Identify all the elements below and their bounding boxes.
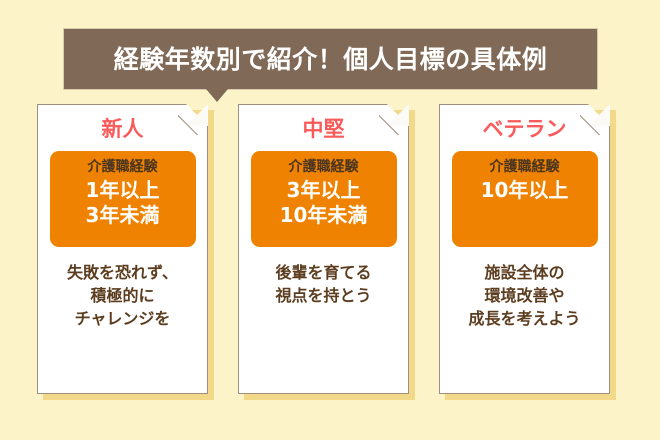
card-title: ベテラン [483, 118, 567, 141]
message-line: 施設全体の [468, 261, 580, 284]
experience-label: 介護職経験 [289, 159, 359, 177]
card-content: ベテラン 介護職経験 10年以上 施設全体の 環境改善や 成長を考えよう [439, 104, 610, 394]
experience-label: 介護職経験 [490, 159, 560, 177]
triangle-down-icon [206, 89, 228, 102]
message-line: 後輩を育てる [275, 261, 371, 284]
experience-values: 3年以上 10年未満 [280, 178, 368, 229]
message-line: 失敗を恐れず、 [67, 261, 178, 284]
experience-value: 10年未満 [280, 203, 368, 229]
experience-box: 介護職経験 1年以上 3年未満 [50, 151, 196, 247]
card-content: 新人 介護職経験 1年以上 3年未満 失敗を恐れず、 積極的に チャレンジを [37, 104, 208, 394]
experience-box: 介護職経験 3年以上 10年未満 [251, 151, 397, 247]
experience-value: 3年以上 [287, 178, 361, 204]
card-row: 新人 介護職経験 1年以上 3年未満 失敗を恐れず、 積極的に チャレンジを [0, 104, 660, 404]
card-newcomer: 新人 介護職経験 1年以上 3年未満 失敗を恐れず、 積極的に チャレンジを [37, 104, 208, 394]
experience-value: 3年未満 [86, 203, 160, 229]
infographic-page: 経験年数別で紹介！個人目標の具体例 新人 介護職経験 1年以上 3年未満 失敗を [0, 0, 660, 440]
card-message: 失敗を恐れず、 積極的に チャレンジを [67, 261, 178, 331]
card-title: 中堅 [303, 118, 345, 141]
experience-values: 10年以上 [481, 178, 569, 204]
message-line: 積極的に [67, 284, 178, 307]
header-banner: 経験年数別で紹介！個人目標の具体例 [63, 28, 598, 90]
experience-value: 1年以上 [86, 178, 160, 204]
card-title: 新人 [102, 118, 144, 141]
message-line: 成長を考えよう [468, 307, 580, 330]
message-line: チャレンジを [67, 307, 178, 330]
experience-values: 1年以上 3年未満 [86, 178, 160, 229]
card-message: 後輩を育てる 視点を持とう [275, 261, 371, 307]
message-line: 環境改善や [468, 284, 580, 307]
message-line: 視点を持とう [275, 284, 371, 307]
card-message: 施設全体の 環境改善や 成長を考えよう [468, 261, 580, 331]
experience-value: 10年以上 [481, 178, 569, 204]
card-veteran: ベテラン 介護職経験 10年以上 施設全体の 環境改善や 成長を考えよう [439, 104, 610, 394]
card-midlevel: 中堅 介護職経験 3年以上 10年未満 後輩を育てる 視点を持とう [238, 104, 409, 394]
card-content: 中堅 介護職経験 3年以上 10年未満 後輩を育てる 視点を持とう [238, 104, 409, 394]
banner-title: 経験年数別で紹介！個人目標の具体例 [114, 47, 548, 72]
experience-box: 介護職経験 10年以上 [452, 151, 598, 247]
experience-label: 介護職経験 [88, 159, 158, 177]
